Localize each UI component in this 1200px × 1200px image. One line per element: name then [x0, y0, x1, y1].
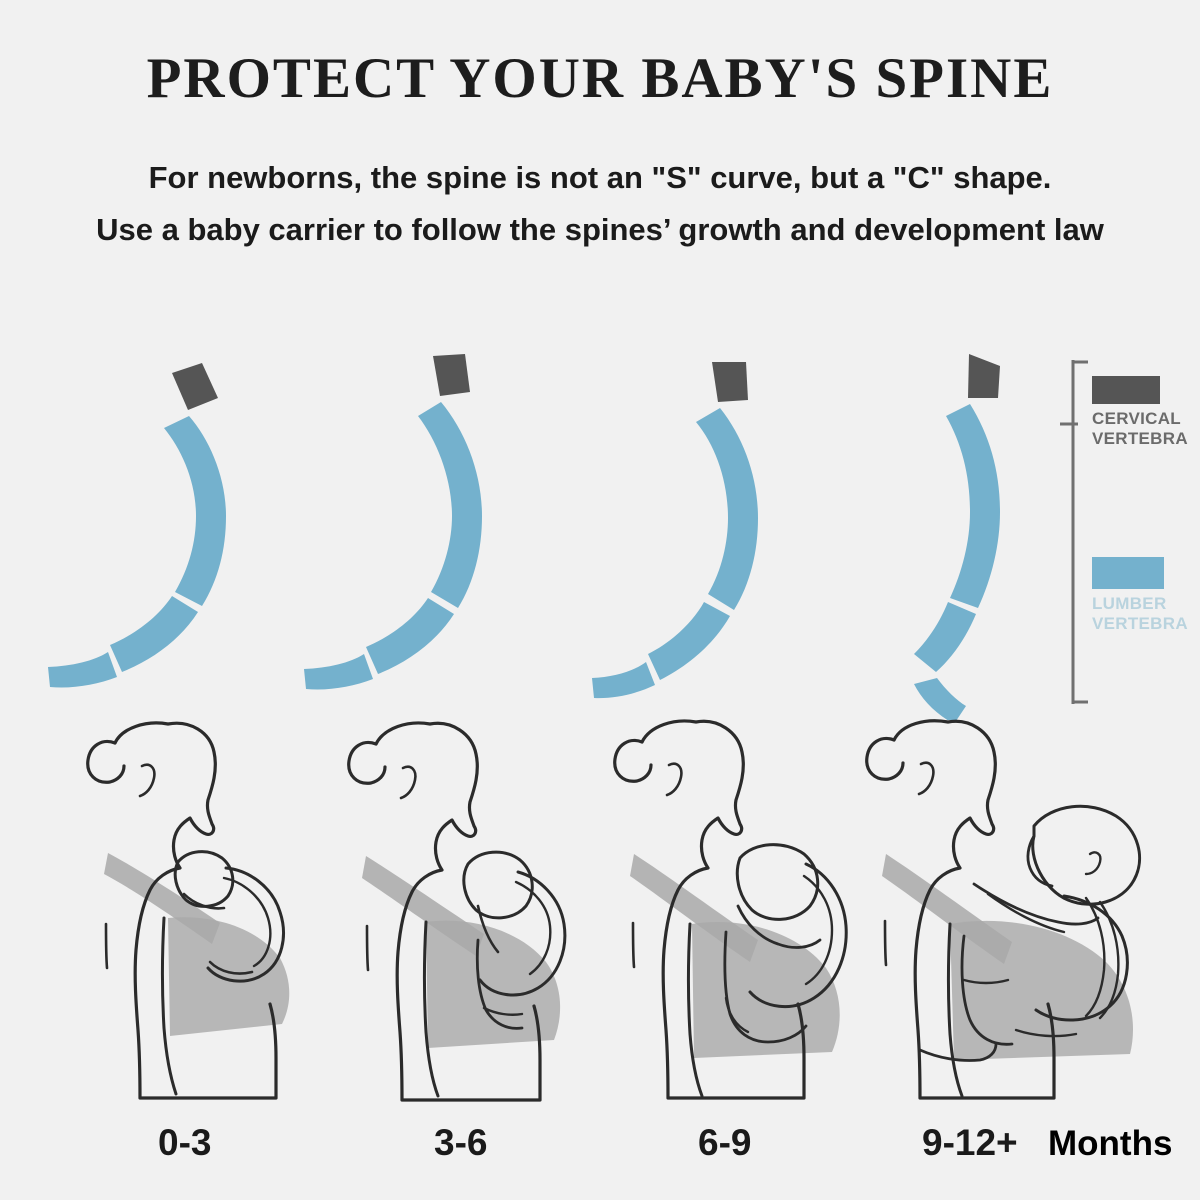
spine-cervical-segment-3-6 — [433, 354, 470, 396]
mother-hair-bun-3-6 — [349, 743, 385, 784]
legend-swatch-lumber — [1092, 557, 1164, 589]
spine-thoracic-segment-6-9 — [696, 408, 758, 610]
legend-label-lumber-line1: LUMBER — [1092, 594, 1188, 614]
baby-face-profile-9-12 — [1028, 836, 1052, 886]
mother-ear-9-12 — [919, 763, 933, 794]
spine-cervical-segment-6-9 — [712, 362, 748, 402]
spine-lumbar-segment-6-9 — [648, 602, 730, 680]
spine-lumbar-segment-0-3 — [110, 596, 198, 672]
baby-head-9-12 — [1033, 806, 1140, 904]
legend-label-lumber-line2: VERTEBRA — [1092, 614, 1188, 634]
mother-ear-6-9 — [667, 764, 681, 795]
legend-bracket-line — [1060, 352, 1090, 712]
spine-sacral-segment-6-9 — [592, 662, 655, 698]
spine-thoracic-segment-9-12 — [946, 404, 1000, 608]
legend-swatch-cervical — [1092, 376, 1160, 404]
months-unit-label: Months — [1048, 1124, 1172, 1164]
spine-lumbar-segment-3-6 — [366, 598, 454, 674]
carry-illustration-9-12 — [838, 718, 1168, 1110]
spine-lumbar-segment-9-12 — [914, 602, 976, 672]
baby-ear-9-12 — [1086, 852, 1100, 874]
carry-illustration-3-6 — [318, 718, 600, 1110]
spine-cervical-segment-0-3 — [172, 363, 218, 410]
carrier-pouch-3-6 — [426, 921, 560, 1048]
legend-item-lumber: LUMBER VERTEBRA — [1092, 557, 1188, 634]
spine-thoracic-segment-0-3 — [164, 416, 226, 606]
mother-arm-line-9-12 — [885, 921, 886, 965]
subtitle-line-1: For newborns, the spine is not an "S" cu… — [0, 160, 1200, 196]
spine-diagram-6-9 — [580, 340, 880, 720]
baby-head-6-9 — [737, 845, 817, 920]
spine-sacral-segment-3-6 — [304, 654, 373, 690]
legend-label-cervical-line1: CERVICAL — [1092, 409, 1188, 429]
legend-label-cervical-line2: VERTEBRA — [1092, 429, 1188, 449]
mother-ear-3-6 — [401, 767, 415, 798]
age-label-0-3: 0-3 — [158, 1122, 211, 1164]
spine-diagram-row — [0, 340, 1200, 720]
subtitle-line-2: Use a baby carrier to follow the spines’… — [0, 212, 1200, 248]
page-title: PROTECT YOUR BABY'S SPINE — [0, 46, 1200, 111]
spine-thoracic-segment-3-6 — [418, 402, 482, 608]
age-label-6-9: 6-9 — [698, 1122, 751, 1164]
mother-hair-bun-9-12 — [867, 739, 903, 780]
mother-figure-3-6 — [349, 723, 560, 1100]
legend: CERVICAL VERTEBRA LUMBER VERTEBRA — [1060, 352, 1200, 712]
infographic-root: PROTECT YOUR BABY'S SPINE For newborns, … — [0, 0, 1200, 1200]
legend-item-cervical: CERVICAL VERTEBRA — [1092, 376, 1188, 449]
spine-diagram-0-3 — [30, 340, 330, 720]
mother-arm-line-6-9 — [633, 923, 634, 967]
mother-hair-bun-6-9 — [615, 741, 651, 782]
carry-illustration-6-9 — [588, 718, 880, 1110]
spine-sacral-segment-9-12 — [914, 678, 966, 720]
mother-figure-0-3 — [88, 723, 290, 1098]
mother-ear-0-3 — [140, 765, 154, 796]
mother-arm-line-0-3 — [106, 924, 107, 968]
carrier-pouch-9-12 — [950, 921, 1133, 1060]
spine-diagram-3-6 — [300, 340, 600, 720]
mother-arm-line-3-6 — [367, 926, 368, 970]
carry-illustration-row — [0, 718, 1200, 1108]
spine-sacral-segment-0-3 — [48, 652, 117, 688]
age-label-3-6: 3-6 — [434, 1122, 487, 1164]
spine-cervical-segment-9-12 — [968, 354, 1000, 398]
age-label-9-12: 9-12+ — [922, 1122, 1018, 1164]
mother-hair-bun-0-3 — [88, 742, 124, 783]
carry-illustration-0-3 — [60, 718, 325, 1110]
